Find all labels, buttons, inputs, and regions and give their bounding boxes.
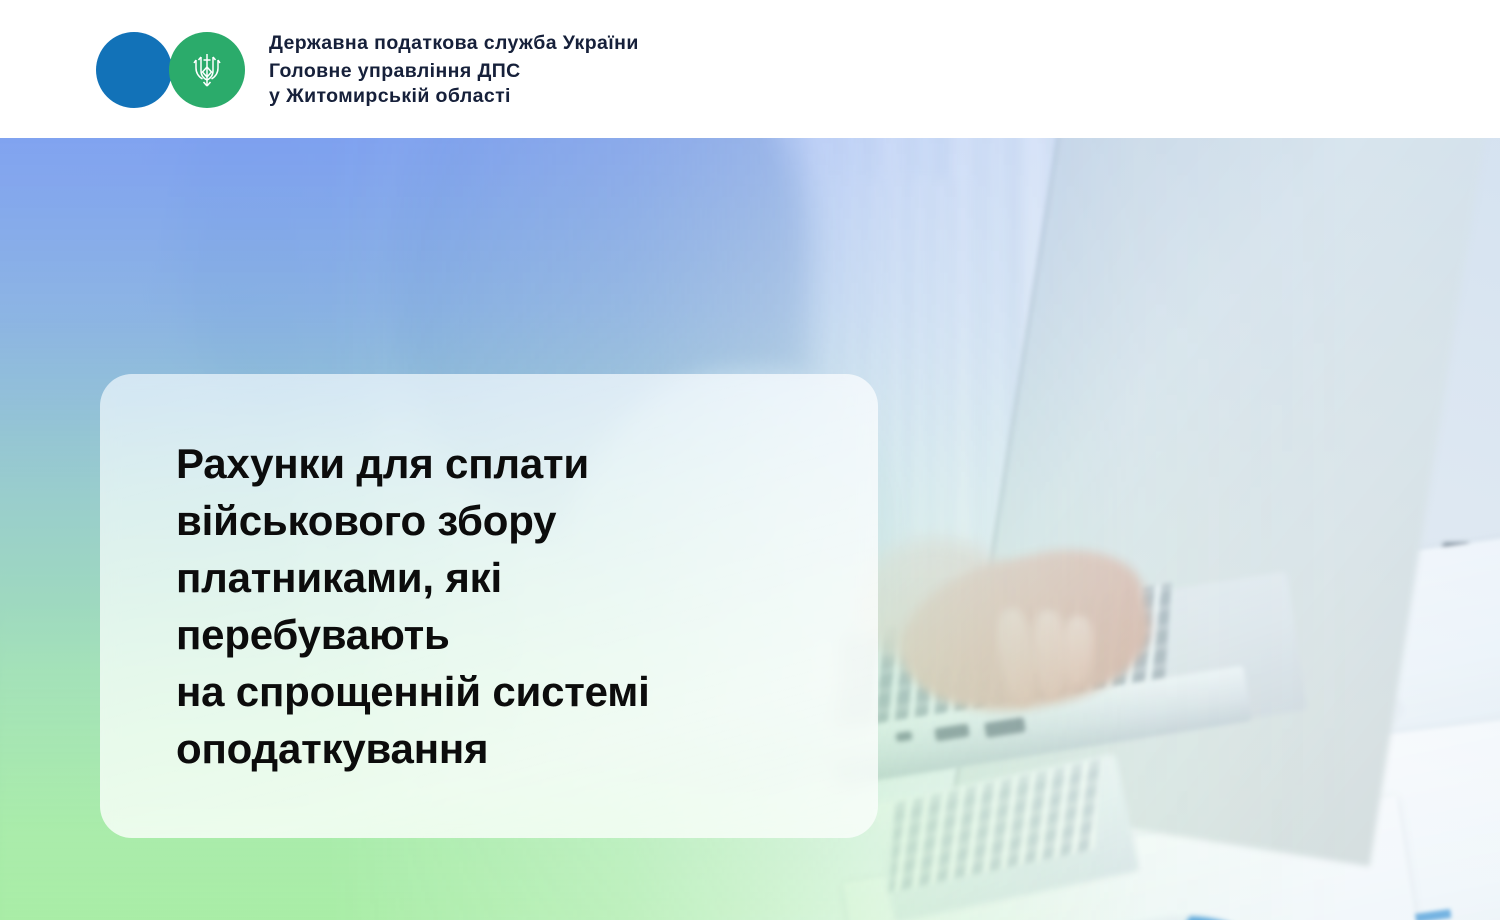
headline-line-3: платниками, які [176,549,836,606]
hero-banner: Рахунки для сплати військового збору пла… [0,138,1500,920]
headline-line-5: на спрощенній системі [176,663,836,720]
page-title: Рахунки для сплати військового збору пла… [176,435,836,777]
org-title-line-3: у Житомирській області [269,84,639,109]
organization-logo: Державна податкова служба України Головн… [96,31,639,109]
headline-line-4: перебувають [176,606,836,663]
logo-green-circle-icon [169,32,245,108]
logo-blue-circle-icon [96,32,172,108]
headline-line-1: Рахунки для сплати [176,435,836,492]
headline-line-6: оподаткування [176,720,836,777]
org-title-line-2: Головне управління ДПС [269,59,639,84]
page-header: Державна податкова служба України Головн… [0,0,1500,138]
organization-name: Державна податкова служба України Головн… [269,31,639,109]
org-title-line-1: Державна податкова служба України [269,31,639,55]
headline-line-2: військового збору [176,492,836,549]
ukraine-trident-icon [192,51,222,89]
